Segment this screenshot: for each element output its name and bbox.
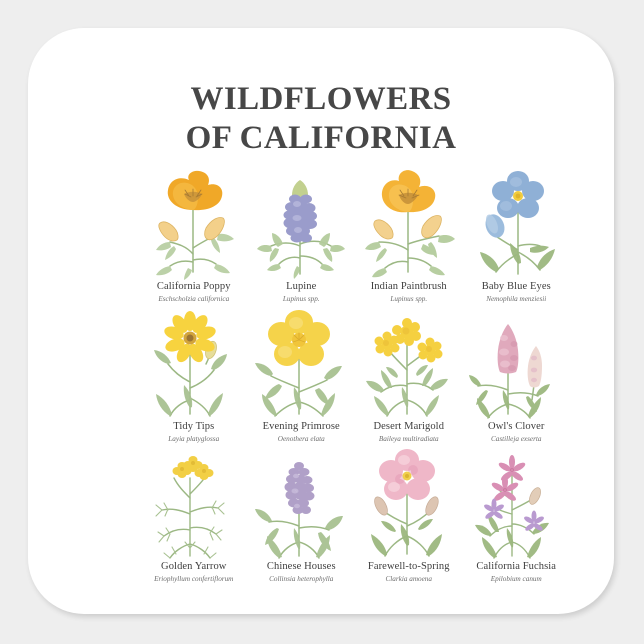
- flower-scientific-name: Baileya multiradiata: [353, 435, 465, 444]
- flower-common-name: Desert Marigold: [353, 421, 465, 434]
- flower-cell-baby-blue-eyes[interactable]: Baby Blue Eyes Nemophila menziesii: [463, 168, 571, 304]
- flower-cell-california-fuchsia[interactable]: California Fuchsia Epilobium canum: [463, 448, 571, 584]
- california-poppy-illustration: [146, 168, 242, 280]
- flower-scientific-name: Lupinus spp.: [353, 295, 465, 304]
- flower-labels: Tidy Tips Layia platyglossa: [138, 421, 250, 444]
- flower-common-name: California Poppy: [138, 281, 250, 294]
- flower-scientific-name: Nemophila menziesii: [460, 295, 572, 304]
- flower-common-name: Lupine: [245, 281, 357, 294]
- flower-common-name: Chinese Houses: [245, 561, 357, 574]
- flower-scientific-name: Eschscholzia californica: [138, 295, 250, 304]
- flower-cell-desert-marigold[interactable]: Desert Marigold Baileya multiradiata: [355, 308, 463, 444]
- flower-cell-chinese-houses[interactable]: Chinese Houses Collinsia heterophylla: [248, 448, 356, 584]
- flower-scientific-name: Epilobium canum: [460, 575, 572, 584]
- flower-scientific-name: Lupinus spp.: [245, 295, 357, 304]
- flower-scientific-name: Castilleja exserta: [460, 435, 572, 444]
- flower-common-name: Farewell-to-Spring: [353, 561, 465, 574]
- flower-labels: Desert Marigold Baileya multiradiata: [353, 421, 465, 444]
- indian-paintbrush-illustration: [361, 168, 457, 280]
- flower-cell-farewell-to-spring[interactable]: Farewell-to-Spring Clarkia amoena: [355, 448, 463, 584]
- california-fuchsia-illustration: [468, 448, 564, 560]
- tidy-tips-illustration: [146, 308, 242, 420]
- flower-row-1: California Poppy Eschscholzia californic…: [140, 168, 570, 304]
- flower-labels: Evening Primrose Oenothera elata: [245, 421, 357, 444]
- title-line-2: OF CALIFORNIA: [28, 119, 614, 158]
- flower-scientific-name: Eriophyllum confertiflorum: [138, 575, 250, 584]
- flower-grid: California Poppy Eschscholzia californic…: [140, 168, 570, 588]
- flower-common-name: Tidy Tips: [138, 421, 250, 434]
- flower-labels: Lupine Lupinus spp.: [245, 281, 357, 304]
- flower-labels: Golden Yarrow Eriophyllum confertiflorum: [138, 561, 250, 584]
- flower-labels: Indian Paintbrush Lupinus spp.: [353, 281, 465, 304]
- flower-scientific-name: Layia platyglossa: [138, 435, 250, 444]
- page-title: WILDFLOWERS OF CALIFORNIA: [28, 80, 614, 157]
- flower-common-name: Golden Yarrow: [138, 561, 250, 574]
- flower-labels: Owl's Clover Castilleja exserta: [460, 421, 572, 444]
- golden-yarrow-illustration: [146, 448, 242, 560]
- lupine-illustration: [253, 168, 349, 280]
- flower-scientific-name: Clarkia amoena: [353, 575, 465, 584]
- evening-primrose-illustration: [253, 308, 349, 420]
- flower-labels: Baby Blue Eyes Nemophila menziesii: [460, 281, 572, 304]
- flower-labels: Chinese Houses Collinsia heterophylla: [245, 561, 357, 584]
- sticker-canvas: WILDFLOWERS OF CALIFORNIA: [0, 0, 644, 644]
- flower-scientific-name: Oenothera elata: [245, 435, 357, 444]
- owls-clover-illustration: [468, 308, 564, 420]
- desert-marigold-illustration: [361, 308, 457, 420]
- flower-cell-evening-primrose[interactable]: Evening Primrose Oenothera elata: [248, 308, 356, 444]
- flower-row-2: Tidy Tips Layia platyglossa: [140, 308, 570, 444]
- flower-labels: California Poppy Eschscholzia californic…: [138, 281, 250, 304]
- flower-cell-california-poppy[interactable]: California Poppy Eschscholzia californic…: [140, 168, 248, 304]
- flower-labels: California Fuchsia Epilobium canum: [460, 561, 572, 584]
- flower-common-name: Evening Primrose: [245, 421, 357, 434]
- flower-scientific-name: Collinsia heterophylla: [245, 575, 357, 584]
- farewell-to-spring-illustration: [361, 448, 457, 560]
- flower-labels: Farewell-to-Spring Clarkia amoena: [353, 561, 465, 584]
- wildflower-sticker: WILDFLOWERS OF CALIFORNIA: [28, 28, 614, 614]
- flower-common-name: Baby Blue Eyes: [460, 281, 572, 294]
- flower-row-3: Golden Yarrow Eriophyllum confertiflorum: [140, 448, 570, 584]
- flower-common-name: California Fuchsia: [460, 561, 572, 574]
- title-line-1: WILDFLOWERS: [28, 80, 614, 119]
- flower-cell-golden-yarrow[interactable]: Golden Yarrow Eriophyllum confertiflorum: [140, 448, 248, 584]
- flower-common-name: Indian Paintbrush: [353, 281, 465, 294]
- flower-cell-indian-paintbrush[interactable]: Indian Paintbrush Lupinus spp.: [355, 168, 463, 304]
- flower-common-name: Owl's Clover: [460, 421, 572, 434]
- baby-blue-eyes-illustration: [468, 168, 564, 280]
- flower-cell-owls-clover[interactable]: Owl's Clover Castilleja exserta: [463, 308, 571, 444]
- flower-cell-tidy-tips[interactable]: Tidy Tips Layia platyglossa: [140, 308, 248, 444]
- chinese-houses-illustration: [253, 448, 349, 560]
- flower-cell-lupine[interactable]: Lupine Lupinus spp.: [248, 168, 356, 304]
